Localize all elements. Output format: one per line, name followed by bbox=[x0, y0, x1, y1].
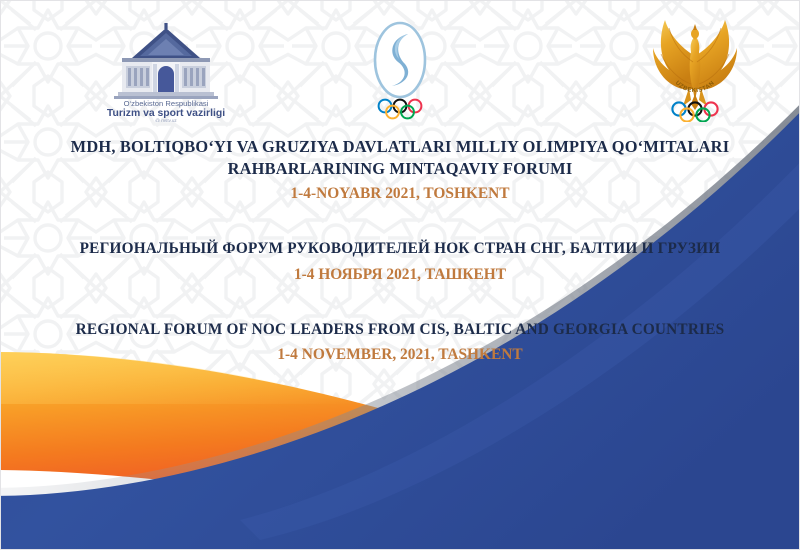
ministry-logo-line1: O‘zbekiston Respublikasi bbox=[124, 99, 209, 108]
title-block-uzbek: MDH, BOLTIQBO‘YI VA GRUZIYA DAVLATLARI M… bbox=[0, 136, 800, 205]
government-building-icon bbox=[114, 23, 218, 99]
title-block-english: REGIONAL FORUM OF NOC LEADERS FROM CIS, … bbox=[0, 320, 800, 366]
ministry-of-tourism-and-sport-logo: O‘zbekiston Respublikasi Turizm va sport… bbox=[104, 22, 228, 122]
uz-title-line-1: MDH, BOLTIQBO‘YI VA GRUZIYA DAVLATLARI M… bbox=[0, 136, 800, 158]
noc-oval-emblem-logo bbox=[365, 20, 435, 120]
ru-date-line: 1-4 НОЯБРЯ 2021, ТАШКЕНТ bbox=[0, 263, 800, 286]
humo-bird-icon: UZBEKISTAN bbox=[653, 20, 737, 110]
en-date-line: 1-4 NOVEMBER, 2021, TASHKENT bbox=[0, 343, 800, 366]
forum-title-area: MDH, BOLTIQBO‘YI VA GRUZIYA DAVLATLARI M… bbox=[0, 136, 800, 366]
uz-date-line: 1-4-NOYABR 2021, TOSHKENT bbox=[0, 182, 800, 205]
uz-title-line-2: RAHBARLARINING MINTAQAVIY FORUMI bbox=[0, 158, 800, 180]
en-title-line-1: REGIONAL FORUM OF NOC LEADERS FROM CIS, … bbox=[0, 320, 800, 340]
humo-logo-caption-text: UZBEKISTAN bbox=[745, 14, 746, 15]
ministry-logo-line2-text: Turizm va sport vazirligi bbox=[228, 22, 229, 23]
ministry-logo-line3-text: @ mstv.uz bbox=[228, 22, 229, 23]
title-block-russian: РЕГИОНАЛЬНЫЙ ФОРУМ РУКОВОДИТЕЛЕЙ НОК СТР… bbox=[0, 239, 800, 285]
ministry-logo-line1-text: O‘zbekiston Respublikasi bbox=[228, 22, 229, 23]
ministry-logo-line3: @ mstv.uz bbox=[155, 118, 177, 122]
oval-s-emblem-icon bbox=[375, 23, 425, 97]
noc-uzbekistan-humo-logo: UZBEKISTAN UZBEKISTAN bbox=[645, 14, 745, 122]
event-poster: O‘zbekiston Respublikasi Turizm va sport… bbox=[0, 0, 800, 550]
olympic-rings-icon bbox=[379, 100, 422, 119]
logo-row: O‘zbekiston Respublikasi Turizm va sport… bbox=[0, 0, 800, 130]
ru-title-line-1: РЕГИОНАЛЬНЫЙ ФОРУМ РУКОВОДИТЕЛЕЙ НОК СТР… bbox=[0, 239, 800, 259]
